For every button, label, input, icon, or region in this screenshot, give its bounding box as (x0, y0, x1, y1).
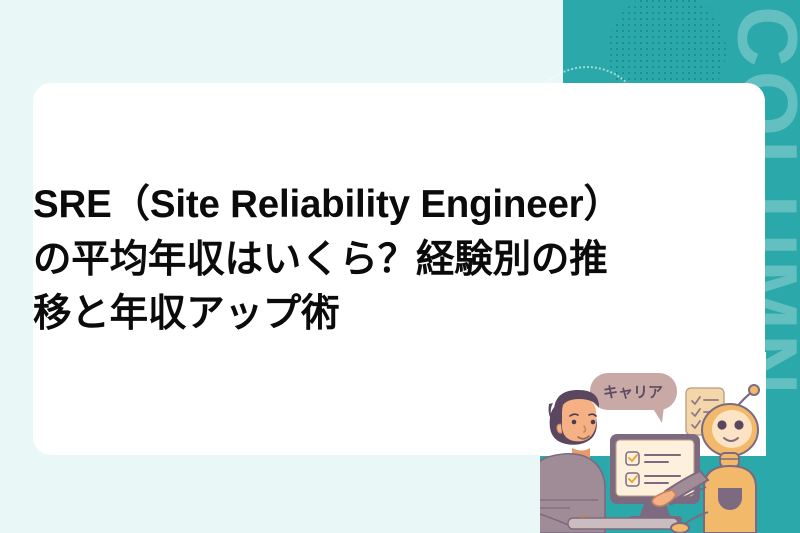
thumbnail-canvas: COLUMN SRE（Site Reliability Engineer） の平… (0, 0, 800, 533)
svg-text:キャリア: キャリア (603, 384, 663, 401)
keyboard-illustration (568, 518, 678, 529)
page-title: SRE（Site Reliability Engineer） の平均年収はいくら… (33, 178, 773, 342)
illustration-person-and-robot: キャリア (540, 352, 800, 533)
